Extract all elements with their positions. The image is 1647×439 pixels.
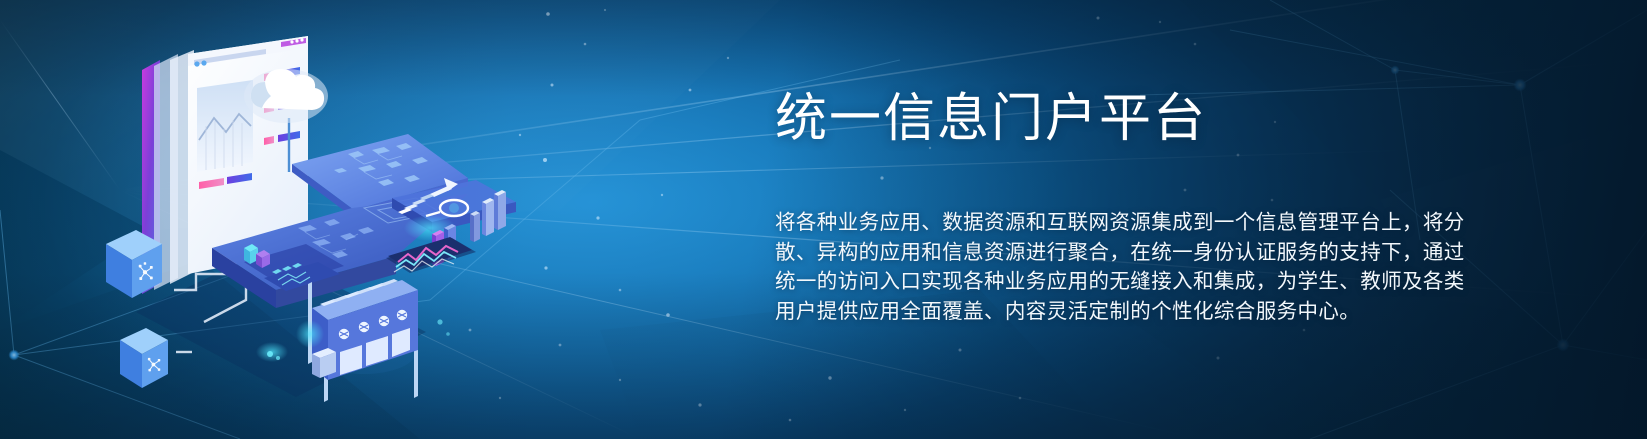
config-cube-upper	[106, 230, 162, 298]
hero-banner: 统一信息门户平台 将各种业务应用、数据资源和互联网资源集成到一个信息管理平台上，…	[0, 0, 1647, 439]
config-cube-lower	[120, 328, 168, 388]
banner-copy: 统一信息门户平台 将各种业务应用、数据资源和互联网资源集成到一个信息管理平台上，…	[773, 0, 1473, 439]
page-title: 统一信息门户平台	[775, 88, 1207, 150]
banner-description: 将各种业务应用、数据资源和互联网资源集成到一个信息管理平台上，将分散、异构的应用…	[775, 208, 1465, 326]
platform-illustration	[96, 22, 536, 422]
illustration-svg	[96, 22, 536, 422]
